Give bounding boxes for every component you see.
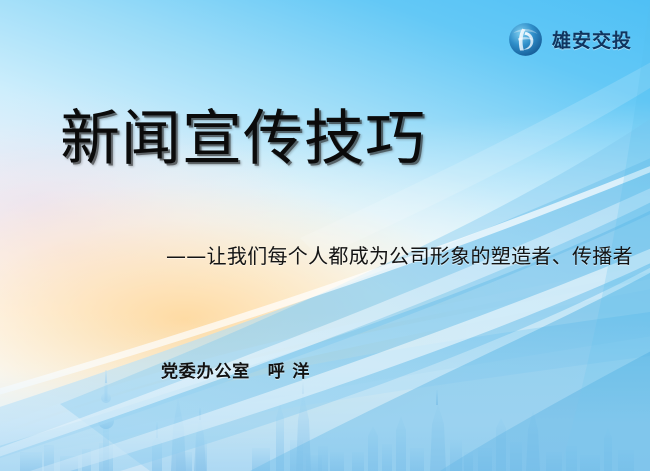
slide-title: 新闻宣传技巧 (60, 108, 426, 171)
company-logo-text: 雄安交投 (552, 26, 632, 53)
xiongan-jiaotou-globe-icon (508, 22, 543, 57)
presenter-line: 党委办公室 呼 洋 (161, 357, 310, 382)
company-logo: 雄安交投 (508, 22, 632, 57)
title-slide: 雄安交投 新闻宣传技巧 ——让我们每个人都成为公司形象的塑造者、传播者 党委办公… (0, 0, 650, 471)
slide-subtitle: ——让我们每个人都成为公司形象的塑造者、传播者 (166, 240, 633, 269)
background-ribbon-and-skyline-art (0, 0, 650, 471)
